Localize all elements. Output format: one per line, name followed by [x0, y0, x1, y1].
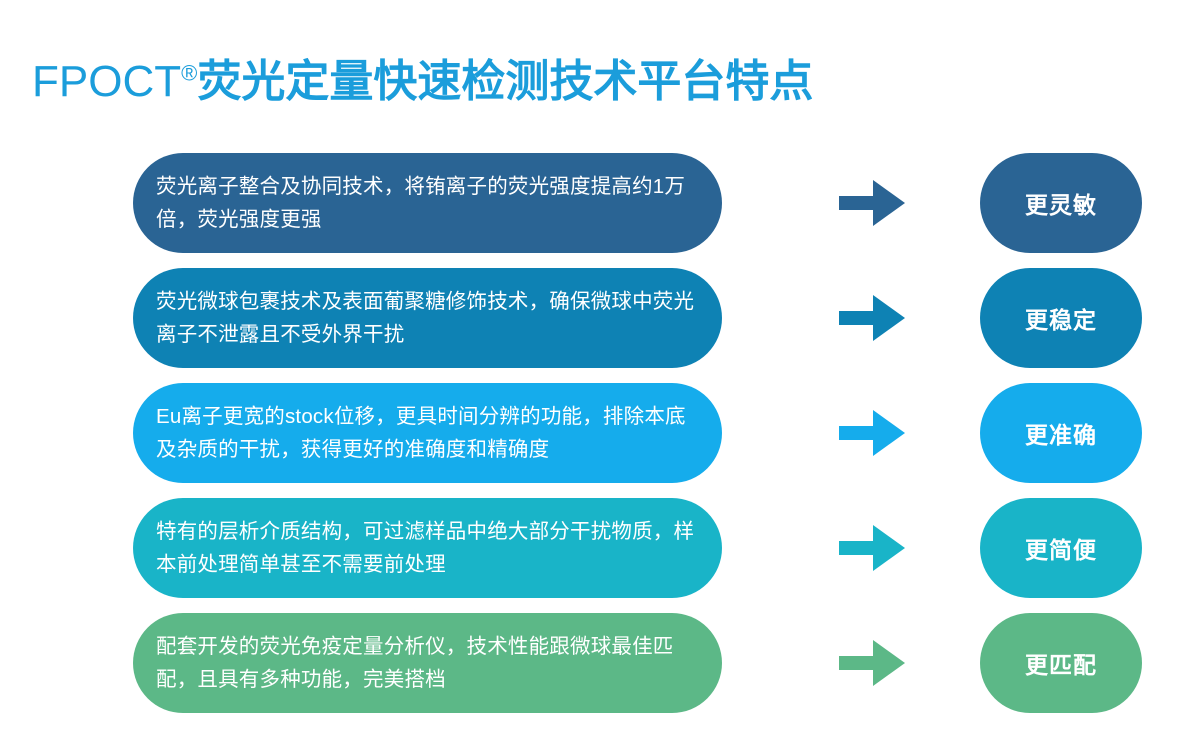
badge-3[interactable]: 更准确 [980, 383, 1142, 483]
badge-5[interactable]: 更匹配 [980, 613, 1142, 713]
feature-bar-5[interactable]: 配套开发的荧光免疫定量分析仪，技术性能跟微球最佳匹配，且具有多种功能，完美搭档 [133, 613, 722, 713]
arrow-right-icon [839, 636, 905, 690]
feature-row: 特有的层析介质结构，可过滤样品中绝大部分干扰物质，样本前处理简单甚至不需要前处理… [0, 498, 1200, 598]
page-title-cjk: 荧光定量快速检测技术平台特点 [197, 57, 813, 106]
badge-label: 更简便 [1025, 531, 1097, 565]
feature-text: 配套开发的荧光免疫定量分析仪，技术性能跟微球最佳匹配，且具有多种功能，完美搭档 [133, 630, 722, 696]
feature-row-list: 荧光离子整合及协同技术，将铕离子的荧光强度提高约1万倍，荧光强度更强 更灵敏 荧… [0, 153, 1200, 728]
feature-row: 配套开发的荧光免疫定量分析仪，技术性能跟微球最佳匹配，且具有多种功能，完美搭档 … [0, 613, 1200, 713]
feature-text: 特有的层析介质结构，可过滤样品中绝大部分干扰物质，样本前处理简单甚至不需要前处理 [133, 515, 722, 581]
arrow-cell-5 [812, 613, 932, 713]
page-title: FPOCT®荧光定量快速检测技术平台特点 [32, 59, 813, 105]
page-title-latin: FPOCT [32, 57, 181, 106]
feature-row: 荧光微球包裹技术及表面葡聚糖修饰技术，确保微球中荧光离子不泄露且不受外界干扰 更… [0, 268, 1200, 368]
feature-row: 荧光离子整合及协同技术，将铕离子的荧光强度提高约1万倍，荧光强度更强 更灵敏 [0, 153, 1200, 253]
registered-trademark-icon: ® [181, 61, 197, 86]
badge-1[interactable]: 更灵敏 [980, 153, 1142, 253]
arrow-cell-1 [812, 153, 932, 253]
feature-text: Eu离子更宽的stock位移，更具时间分辨的功能，排除本底及杂质的干扰，获得更好… [133, 400, 722, 466]
arrow-right-icon [839, 291, 905, 345]
feature-text: 荧光离子整合及协同技术，将铕离子的荧光强度提高约1万倍，荧光强度更强 [133, 170, 722, 236]
arrow-cell-4 [812, 498, 932, 598]
badge-label: 更灵敏 [1025, 186, 1097, 220]
arrow-cell-2 [812, 268, 932, 368]
feature-bar-4[interactable]: 特有的层析介质结构，可过滤样品中绝大部分干扰物质，样本前处理简单甚至不需要前处理 [133, 498, 722, 598]
badge-label: 更稳定 [1025, 301, 1097, 335]
feature-bar-1[interactable]: 荧光离子整合及协同技术，将铕离子的荧光强度提高约1万倍，荧光强度更强 [133, 153, 722, 253]
feature-bar-2[interactable]: 荧光微球包裹技术及表面葡聚糖修饰技术，确保微球中荧光离子不泄露且不受外界干扰 [133, 268, 722, 368]
feature-row: Eu离子更宽的stock位移，更具时间分辨的功能，排除本底及杂质的干扰，获得更好… [0, 383, 1200, 483]
arrow-right-icon [839, 406, 905, 460]
feature-bar-3[interactable]: Eu离子更宽的stock位移，更具时间分辨的功能，排除本底及杂质的干扰，获得更好… [133, 383, 722, 483]
badge-2[interactable]: 更稳定 [980, 268, 1142, 368]
badge-label: 更准确 [1025, 416, 1097, 450]
feature-text: 荧光微球包裹技术及表面葡聚糖修饰技术，确保微球中荧光离子不泄露且不受外界干扰 [133, 285, 722, 351]
badge-label: 更匹配 [1025, 646, 1097, 680]
badge-4[interactable]: 更简便 [980, 498, 1142, 598]
arrow-right-icon [839, 521, 905, 575]
arrow-cell-3 [812, 383, 932, 483]
arrow-right-icon [839, 176, 905, 230]
